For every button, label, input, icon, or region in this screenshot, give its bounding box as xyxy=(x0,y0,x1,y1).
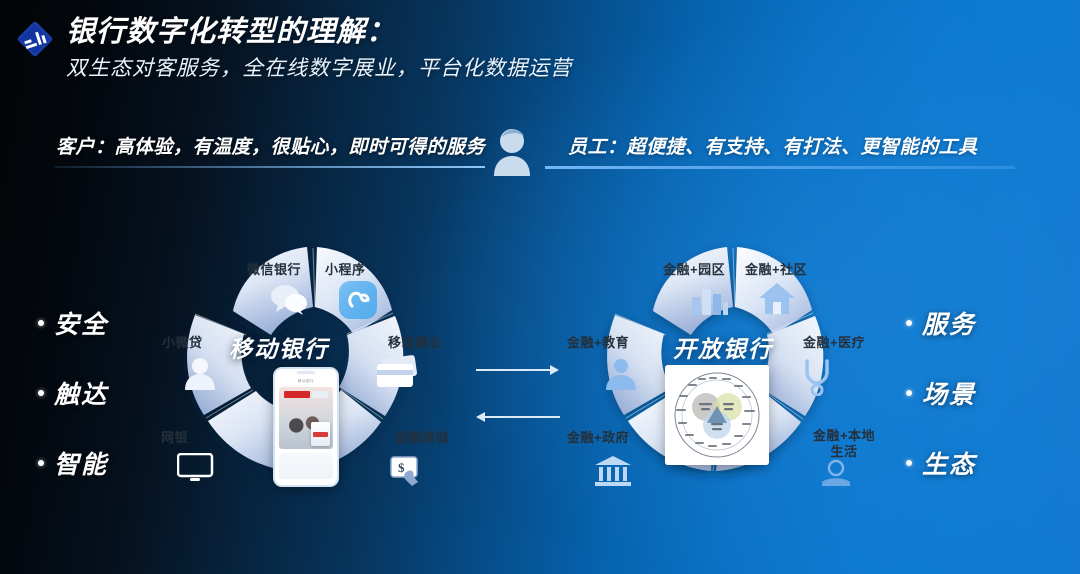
right-keyword-item: 服务 xyxy=(906,288,1046,358)
petal-shape-wechat-bank xyxy=(233,247,313,335)
open-bank-center-title: 开放银行 xyxy=(673,330,773,364)
right-keyword-item: 生态 xyxy=(906,428,1046,498)
bullet-dot-icon xyxy=(38,460,44,466)
bullet-dot-icon xyxy=(38,320,44,326)
petal-shape-education xyxy=(607,315,671,415)
audience-right-underline xyxy=(545,166,1015,169)
mobile-bank-cluster: 微信银行 小程序 移动展业 金融商城 网银 小微贷 xyxy=(125,215,505,535)
right-keyword-item: 场景 xyxy=(906,358,1046,428)
cluster-connector-arrows xyxy=(470,355,610,425)
mobile-phone-app-mockup: 移动银行 xyxy=(273,367,339,487)
open-banking-ecosystem-venn-diagram xyxy=(665,365,769,465)
customer-value-label: 客户：高体验，有温度，很贴心，即时可得的服务 xyxy=(56,134,485,162)
phone-status-text: 移动银行 xyxy=(275,377,337,385)
right-keyword-list: 服务 场景 生态 xyxy=(906,288,1046,498)
page-subtitle: 双生态对客服务，全在线数字展业，平台化数据运营 xyxy=(66,54,572,84)
slide-canvas: 银行数字化转型的理解： 双生态对客服务，全在线数字展业，平台化数据运营 客户：高… xyxy=(0,0,1080,574)
mobile-bank-center-title: 移动银行 xyxy=(229,330,329,364)
left-keyword-label: 智能 xyxy=(54,445,108,481)
page-title: 银行数字化转型的理解： xyxy=(66,14,396,50)
audience-left-underline xyxy=(55,166,485,168)
arrow-left-line xyxy=(484,416,560,418)
phone-notch xyxy=(297,371,315,374)
arrow-right-line xyxy=(476,369,552,371)
employee-value-label: 员工：超便捷、有支持、有打法、更智能的工具 xyxy=(568,134,978,162)
left-keyword-label: 安全 xyxy=(54,305,108,341)
bullet-dot-icon xyxy=(38,390,44,396)
phone-banner-image xyxy=(279,387,333,449)
phone-content-area xyxy=(279,453,333,479)
diamond-chart-logo-icon xyxy=(12,16,58,62)
person-silhouette-icon xyxy=(489,126,535,176)
phone-banner-tag-light xyxy=(312,391,328,398)
phone-banner-card xyxy=(311,422,330,446)
left-keyword-label: 触达 xyxy=(54,375,108,411)
petal-shape-park xyxy=(653,247,733,335)
arrow-right-icon xyxy=(550,365,559,375)
phone-banner-tag-red xyxy=(284,391,310,398)
right-keyword-label: 生态 xyxy=(922,445,976,481)
right-keyword-label: 场景 xyxy=(922,375,976,411)
arrow-left-icon xyxy=(476,412,485,422)
right-keyword-label: 服务 xyxy=(922,305,976,341)
audience-band: 客户：高体验，有温度，很贴心，即时可得的服务 员工：超便捷、有支持、有打法、更智… xyxy=(0,120,1080,182)
